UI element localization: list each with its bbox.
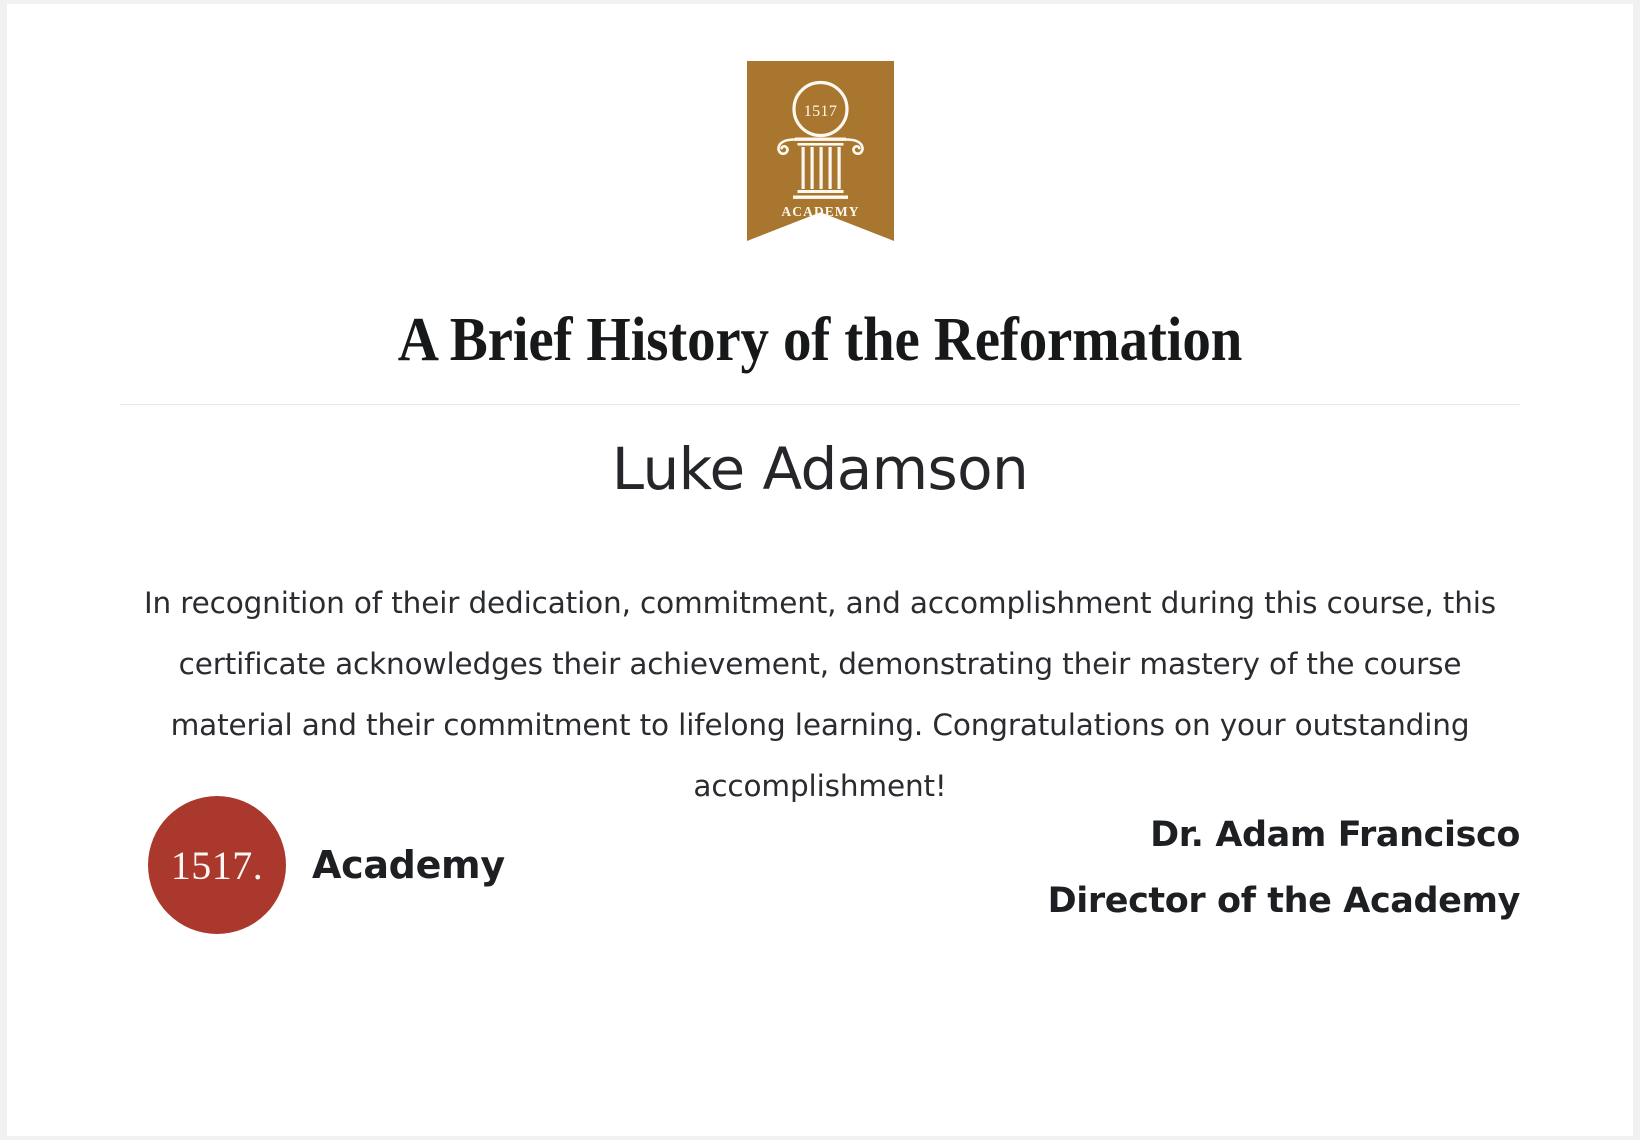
signature-block: Dr. Adam Francisco Director of the Acade… [1048, 802, 1520, 934]
recipient-name: Luke Adamson [0, 432, 1640, 506]
brand-lockup: 1517. Academy [148, 796, 505, 934]
certificate-footer: 1517. Academy Dr. Adam Francisco Directo… [120, 796, 1520, 946]
signatory-name: Dr. Adam Francisco [1048, 802, 1520, 868]
signatory-title: Director of the Academy [1048, 868, 1520, 934]
svg-text:ACADEMY: ACADEMY [781, 204, 859, 219]
academy-crest: 1517 ACADEMY [747, 61, 894, 241]
course-title: A Brief History of the Reformation [66, 298, 1575, 382]
brand-seal-icon: 1517. [148, 796, 286, 934]
brand-name: Academy [312, 843, 505, 887]
page-edge-bottom [0, 1136, 1640, 1140]
page-edge-right [1633, 0, 1640, 1140]
title-divider [120, 404, 1520, 405]
page-edge-top [0, 0, 1640, 4]
brand-seal-year: 1517. [171, 846, 264, 886]
certificate-page: 1517 ACADEMY A Brief History of the Refo… [0, 0, 1640, 1140]
svg-text:1517: 1517 [804, 103, 838, 120]
recognition-paragraph: In recognition of their dedication, comm… [120, 573, 1520, 817]
academy-column-icon: 1517 ACADEMY [747, 61, 894, 241]
page-edge-left [0, 0, 7, 1140]
